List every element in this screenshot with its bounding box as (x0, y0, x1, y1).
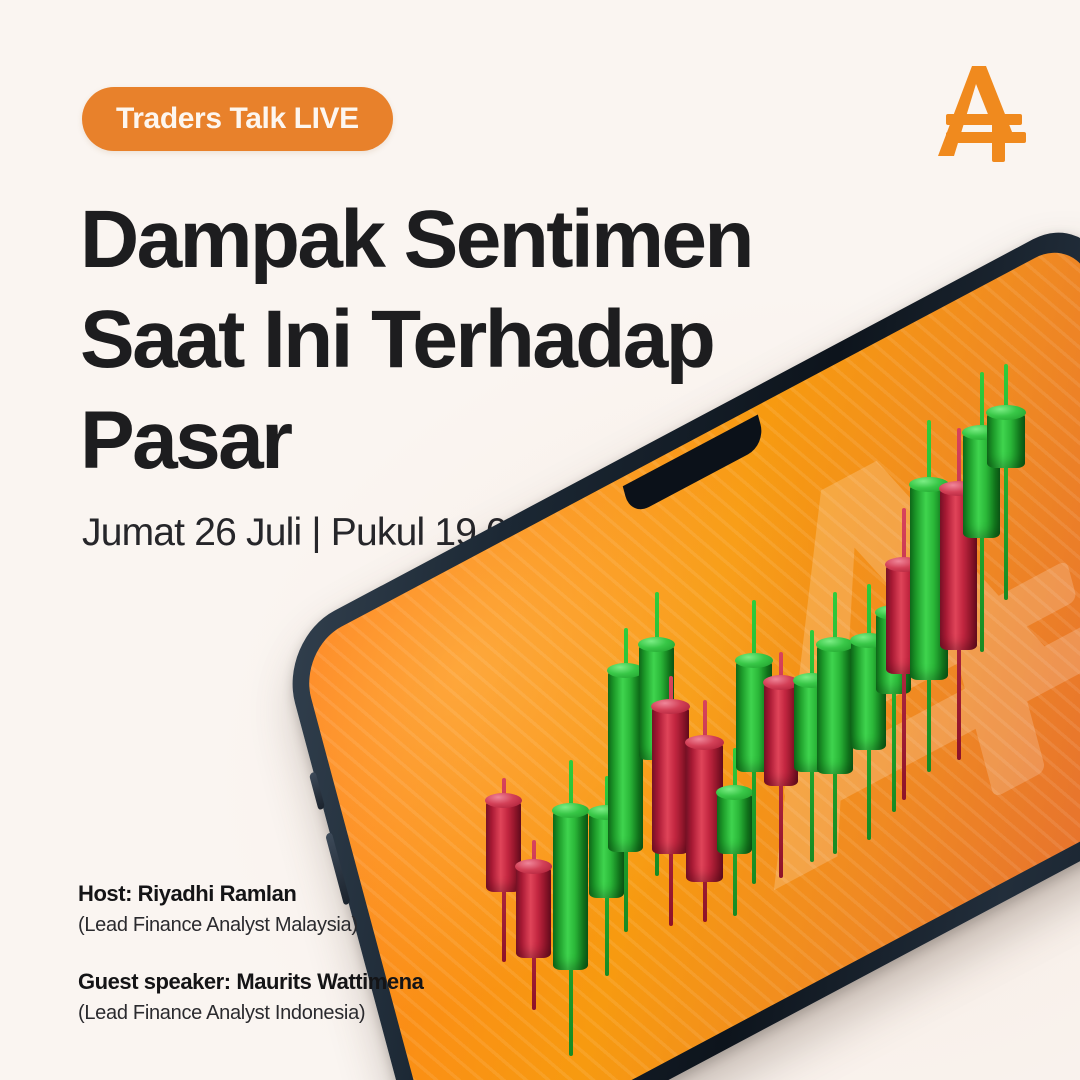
credits: Host: Riyadhi Ramlan (Lead Finance Analy… (78, 878, 423, 1028)
credit-role: (Lead Finance Analyst Malaysia) (78, 910, 423, 940)
a-monogram-logo-icon (924, 58, 1034, 166)
credit-name: Host: Riyadhi Ramlan (78, 878, 423, 910)
credit-guest-speaker: Guest speaker: Maurits Wattimena (Lead F… (78, 966, 423, 1028)
phone-mute-switch (309, 771, 325, 811)
credit-role: (Lead Finance Analyst Indonesia) (78, 998, 423, 1028)
credit-name: Guest speaker: Maurits Wattimena (78, 966, 423, 998)
live-badge-label: Traders Talk LIVE (116, 104, 359, 134)
credit-host: Host: Riyadhi Ramlan (Lead Finance Analy… (78, 878, 423, 940)
live-badge: Traders Talk LIVE (82, 87, 393, 151)
promo-poster: Traders Talk LIVE Dampak Sentimen Saat I… (0, 0, 1080, 1080)
